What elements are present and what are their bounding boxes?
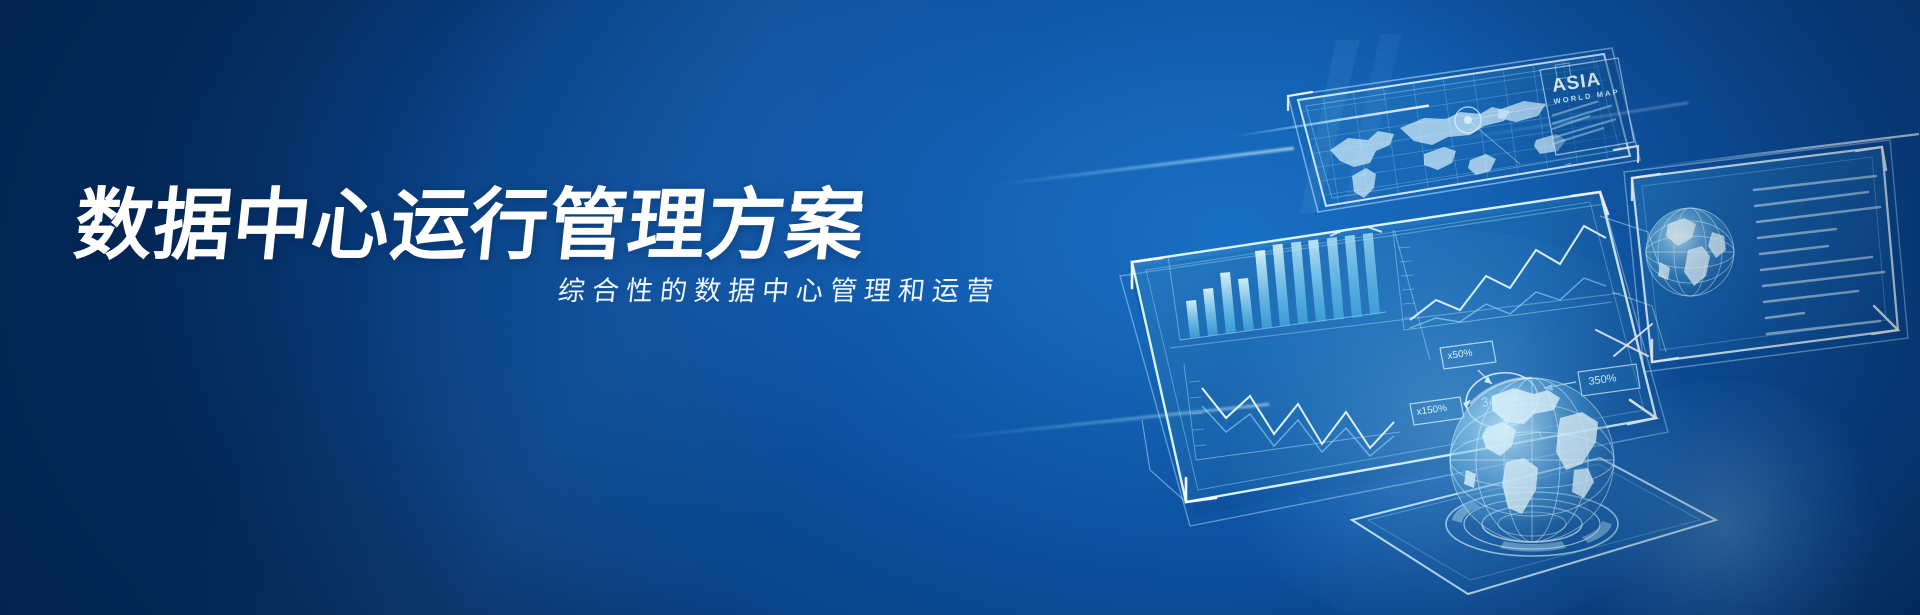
- headline-block: 数据中心运行管理方案 综合性的数据中心管理和运营: [0, 0, 1060, 615]
- text-panel: [1624, 140, 1908, 372]
- small-globe: [1646, 208, 1734, 296]
- page-title: 数据中心运行管理方案: [71, 186, 869, 264]
- hero-banner: ASIA WORLD MAP: [0, 0, 1920, 615]
- page-subtitle: 综合性的数据中心管理和运营: [74, 278, 1002, 305]
- hud-illustration: ASIA WORLD MAP: [1000, 0, 1920, 615]
